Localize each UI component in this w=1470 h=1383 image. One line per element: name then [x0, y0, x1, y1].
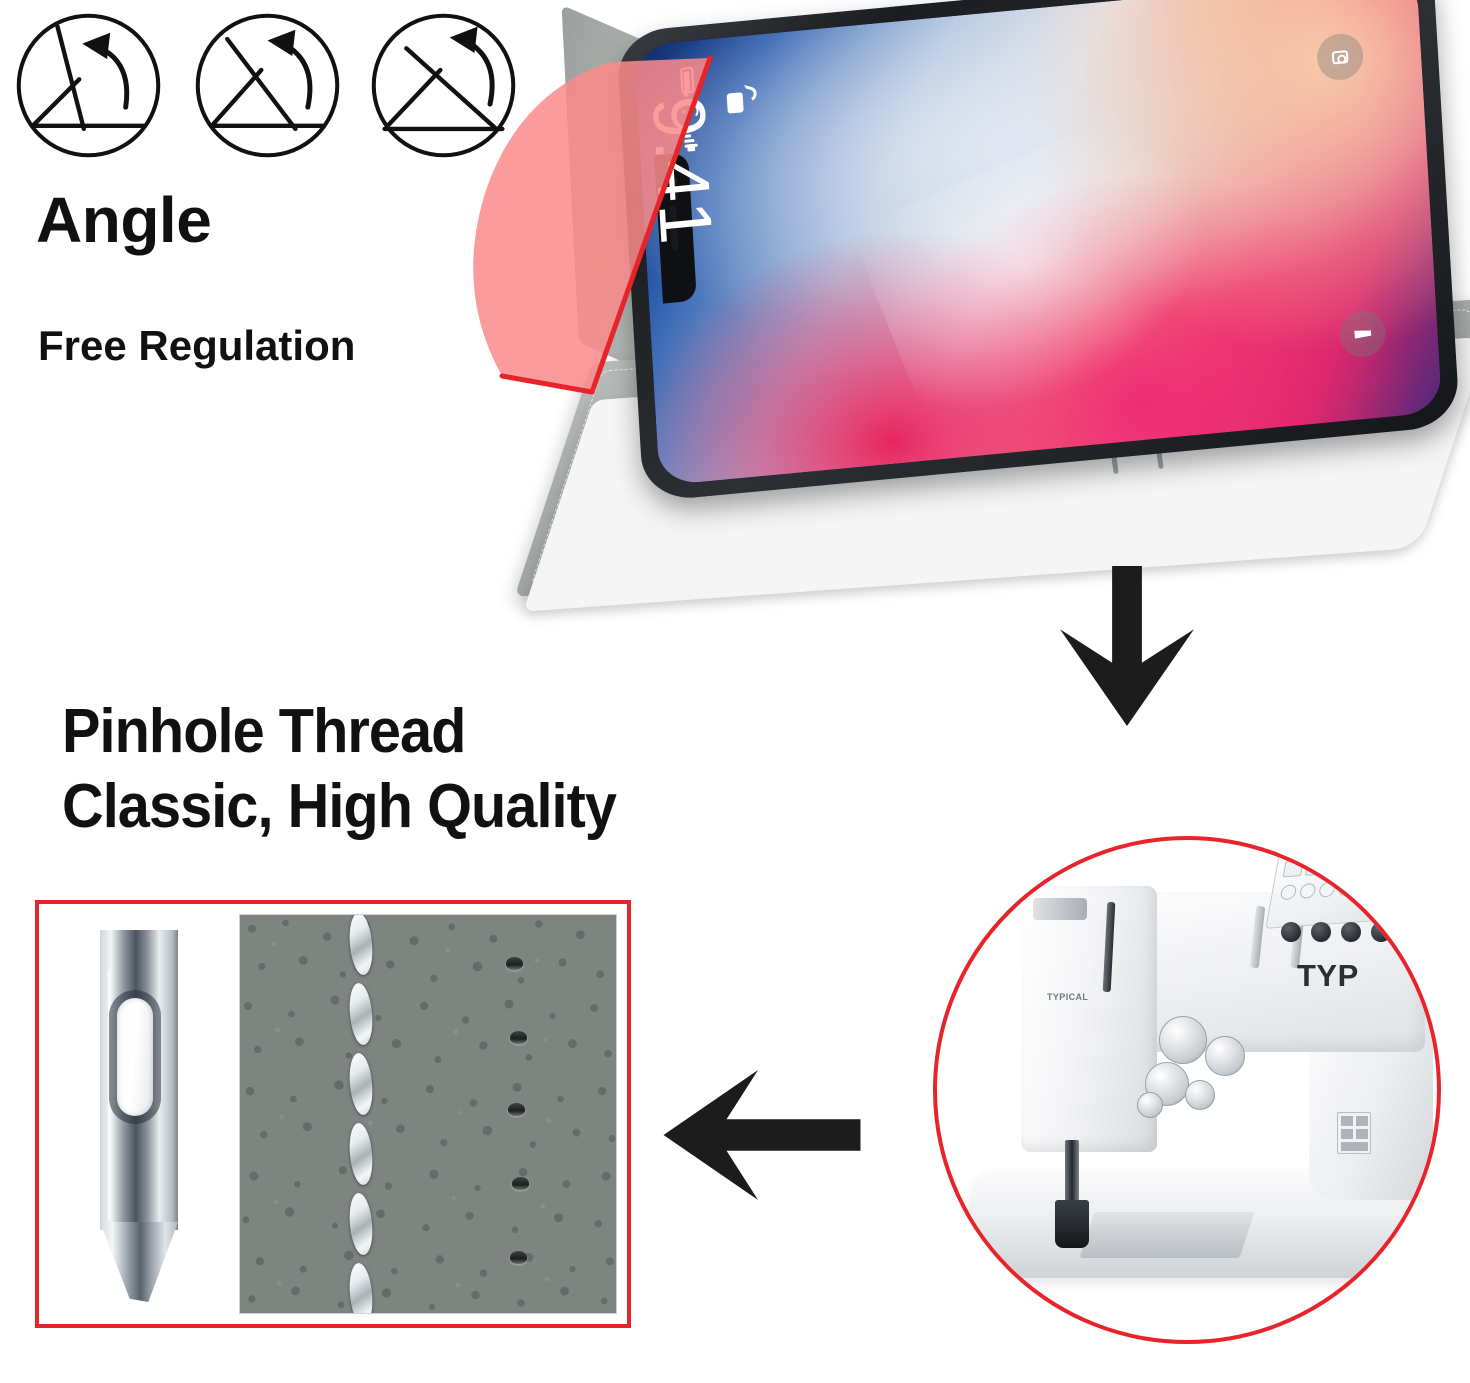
- panel-button[interactable]: [1279, 884, 1297, 900]
- stitch-swatch-cell: [239, 914, 617, 1314]
- pinhole: [510, 1031, 527, 1044]
- camera-icon: [1332, 50, 1349, 64]
- sewing-machine-circle: TYP TYPICAL: [933, 836, 1441, 1344]
- machine-model-text: TYPICAL: [1047, 992, 1088, 1002]
- industrial-sewing-machine: TYP TYPICAL: [937, 840, 1437, 1340]
- seven-segment-display: [1372, 854, 1393, 871]
- phone-case-scene: 9:41 9月12日 星期二 丁酉年七月廿二: [420, 0, 1470, 620]
- control-knob[interactable]: [1341, 922, 1361, 942]
- seven-segment-display: [1283, 860, 1304, 877]
- flashlight-icon: [1354, 329, 1371, 339]
- panel-button[interactable]: [1318, 882, 1336, 898]
- angle-overlay-wedge: [442, 40, 742, 440]
- pinhole: [506, 957, 523, 970]
- panel-display-row: [1283, 854, 1393, 877]
- machine-top-cover: [1033, 898, 1087, 920]
- pinhole-heading-line1: Pinhole Thread: [62, 697, 465, 766]
- sewing-needle-icon: [100, 930, 178, 1298]
- pinhole: [508, 1103, 525, 1116]
- stitch-segment: [347, 1262, 374, 1314]
- leather-grain-texture: [240, 915, 616, 1311]
- control-knob[interactable]: [1371, 922, 1391, 942]
- control-knob[interactable]: [1281, 922, 1301, 942]
- seven-segment-display: [1327, 857, 1348, 874]
- angle-subheading: Free Regulation: [38, 325, 355, 367]
- machine-warning-label: [1337, 1112, 1371, 1154]
- needle-closeup-cell: [39, 904, 239, 1324]
- machine-head: [1021, 886, 1157, 1152]
- machine-presser-foot: [1055, 1200, 1089, 1248]
- stitch-segment: [347, 1052, 374, 1116]
- panel-button[interactable]: [1357, 879, 1375, 895]
- pinhole-heading: Pinhole Thread Classic, High Quality: [62, 700, 616, 838]
- pinhole: [512, 1177, 529, 1190]
- tension-disc: [1137, 1092, 1163, 1118]
- angle-steep-icon: [11, 8, 166, 163]
- machine-control-panel: [1265, 845, 1420, 929]
- seven-segment-display: [1305, 859, 1326, 876]
- infographic-page: Angle Free Regulation Pinhole Thread Cla…: [0, 0, 1470, 1383]
- stitch-segment: [347, 982, 374, 1046]
- angle-medium-icon: [190, 8, 345, 163]
- angle-heading: Angle: [36, 188, 211, 252]
- tension-disc: [1159, 1016, 1207, 1064]
- phone-screen: 9:41 9月12日 星期二 丁酉年七月廿二: [634, 0, 1443, 486]
- needle-tip: [100, 1222, 178, 1302]
- machine-brand-text: TYP: [1297, 958, 1359, 994]
- needle-groove: [108, 970, 110, 1220]
- pinhole: [510, 1251, 527, 1264]
- arrow-left-icon: [662, 1070, 862, 1200]
- needle-eye: [117, 998, 153, 1116]
- control-knob[interactable]: [1311, 922, 1331, 942]
- control-knob[interactable]: [1401, 924, 1421, 944]
- panel-button-row[interactable]: [1279, 879, 1374, 900]
- phone-device: 9:41 9月12日 星期二 丁酉年七月廿二: [616, 0, 1460, 502]
- stitch-seam: [348, 914, 374, 1314]
- pinhole-detail-panel: [35, 900, 631, 1328]
- tension-disc: [1185, 1080, 1215, 1110]
- pinhole-heading-line2: Classic, High Quality: [62, 775, 616, 838]
- tension-disc: [1205, 1036, 1245, 1076]
- stitch-segment: [347, 1192, 374, 1256]
- panel-button[interactable]: [1299, 883, 1317, 899]
- panel-button[interactable]: [1337, 880, 1355, 896]
- arrow-down-icon: [1032, 566, 1222, 726]
- machine-throat-plate: [1080, 1212, 1255, 1258]
- stitch-segment: [347, 1122, 374, 1186]
- stitch-segment: [347, 914, 374, 976]
- seven-segment-display: [1350, 856, 1371, 873]
